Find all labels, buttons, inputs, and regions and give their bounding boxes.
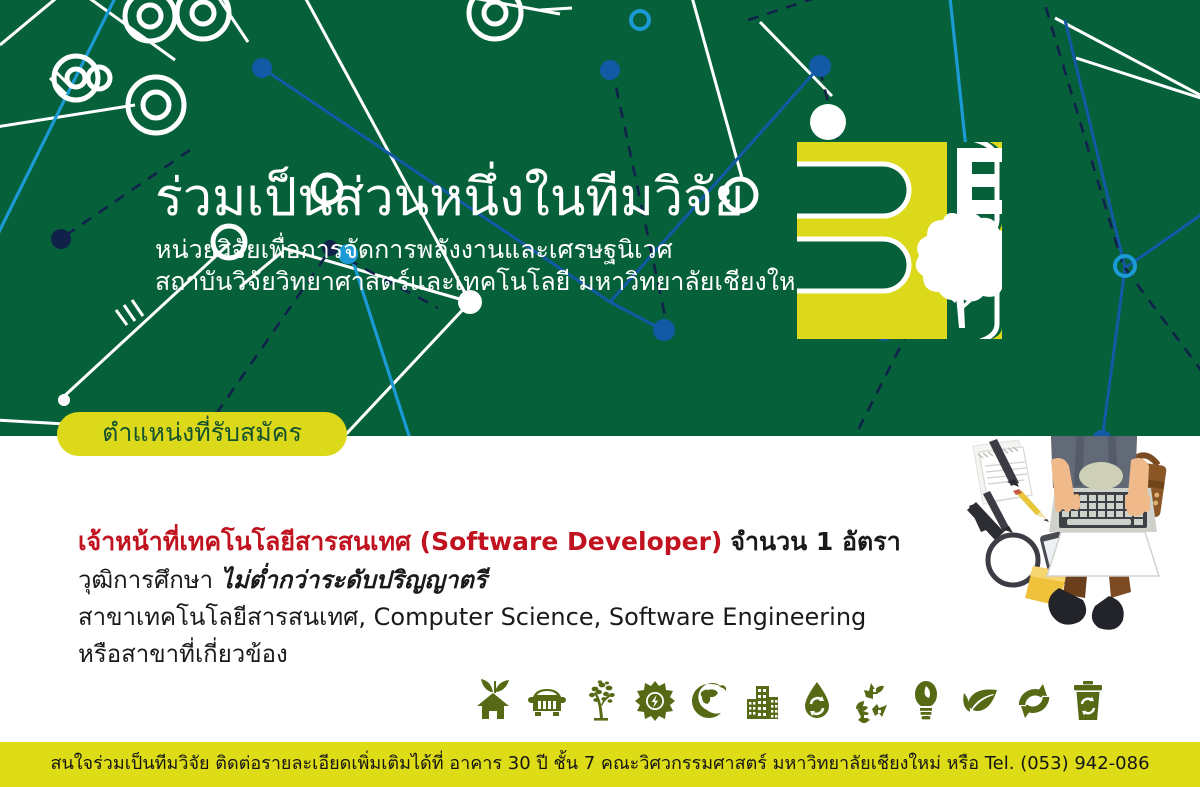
job-details: เจ้าหน้าที่เทคโนโลยีสารสนเทศ (Software D…: [78, 522, 978, 673]
recycle-leaves-icon: [852, 679, 892, 723]
education-value: ไม่ต่ำกว่าระดับปริญญาตรี: [221, 566, 487, 594]
recycle-bin-icon: [1068, 679, 1108, 723]
job-title-row: เจ้าหน้าที่เทคโนโลยีสารสนเทศ (Software D…: [78, 522, 978, 562]
footer-bar: สนใจร่วมเป็นทีมวิจัย ติดต่อรายละเอียดเพิ…: [0, 742, 1200, 787]
recycle-arrows-icon: [1014, 679, 1054, 723]
person-with-laptop-illustration: [955, 436, 1200, 648]
solar-energy-icon: [635, 679, 675, 723]
eco-icon-strip: [473, 678, 1108, 724]
eco-lightbulb-icon: [906, 679, 946, 723]
3e-logo: [797, 142, 1002, 339]
fields-row-continued: หรือสาขาที่เกี่ยวข้อง: [78, 636, 978, 673]
headline-block: ร่วมเป็นส่วนหนึ่งในทีมวิจัย หน่วยวิจัยเพ…: [155, 168, 855, 298]
hero-banner: ร่วมเป็นส่วนหนึ่งในทีมวิจัย หน่วยวิจัยเพ…: [0, 0, 1200, 436]
eco-house-icon: [473, 679, 513, 723]
education-row: วุฒิการศึกษา ไม่ต่ำกว่าระดับปริญญาตรี: [78, 562, 978, 599]
globe-icon: [689, 679, 729, 723]
subtitle-line-1: หน่วยวิจัยเพื่อการจัดการพลังงานและเศรษฐน…: [155, 234, 855, 266]
recruitment-poster: ร่วมเป็นส่วนหนึ่งในทีมวิจัย หน่วยวิจัยเพ…: [0, 0, 1200, 787]
eco-car-icon: [527, 679, 567, 723]
footer-contact-text: สนใจร่วมเป็นทีมวิจัย ติดต่อรายละเอียดเพิ…: [50, 755, 1149, 775]
water-recycle-drop-icon: [797, 679, 837, 723]
tree-icon: [581, 679, 621, 723]
job-count: จำนวน 1 อัตรา: [730, 527, 900, 556]
leaves-icon: [960, 679, 1000, 723]
education-label: วุฒิการศึกษา: [78, 566, 213, 594]
job-title: เจ้าหน้าที่เทคโนโลยีสารสนเทศ (Software D…: [78, 527, 722, 556]
green-building-icon: [743, 679, 783, 723]
page-title: ร่วมเป็นส่วนหนึ่งในทีมวิจัย: [155, 168, 855, 228]
positions-badge: ตำแหน่งที่รับสมัคร: [57, 412, 347, 456]
positions-badge-label: ตำแหน่งที่รับสมัคร: [102, 420, 302, 448]
subtitle-line-2: สถาบันวิจัยวิทยาศาสตร์และเทคโนโลยี มหาวิ…: [155, 266, 855, 298]
fields-row: สาขาเทคโนโลยีสารสนเทศ, Computer Science,…: [78, 599, 978, 636]
